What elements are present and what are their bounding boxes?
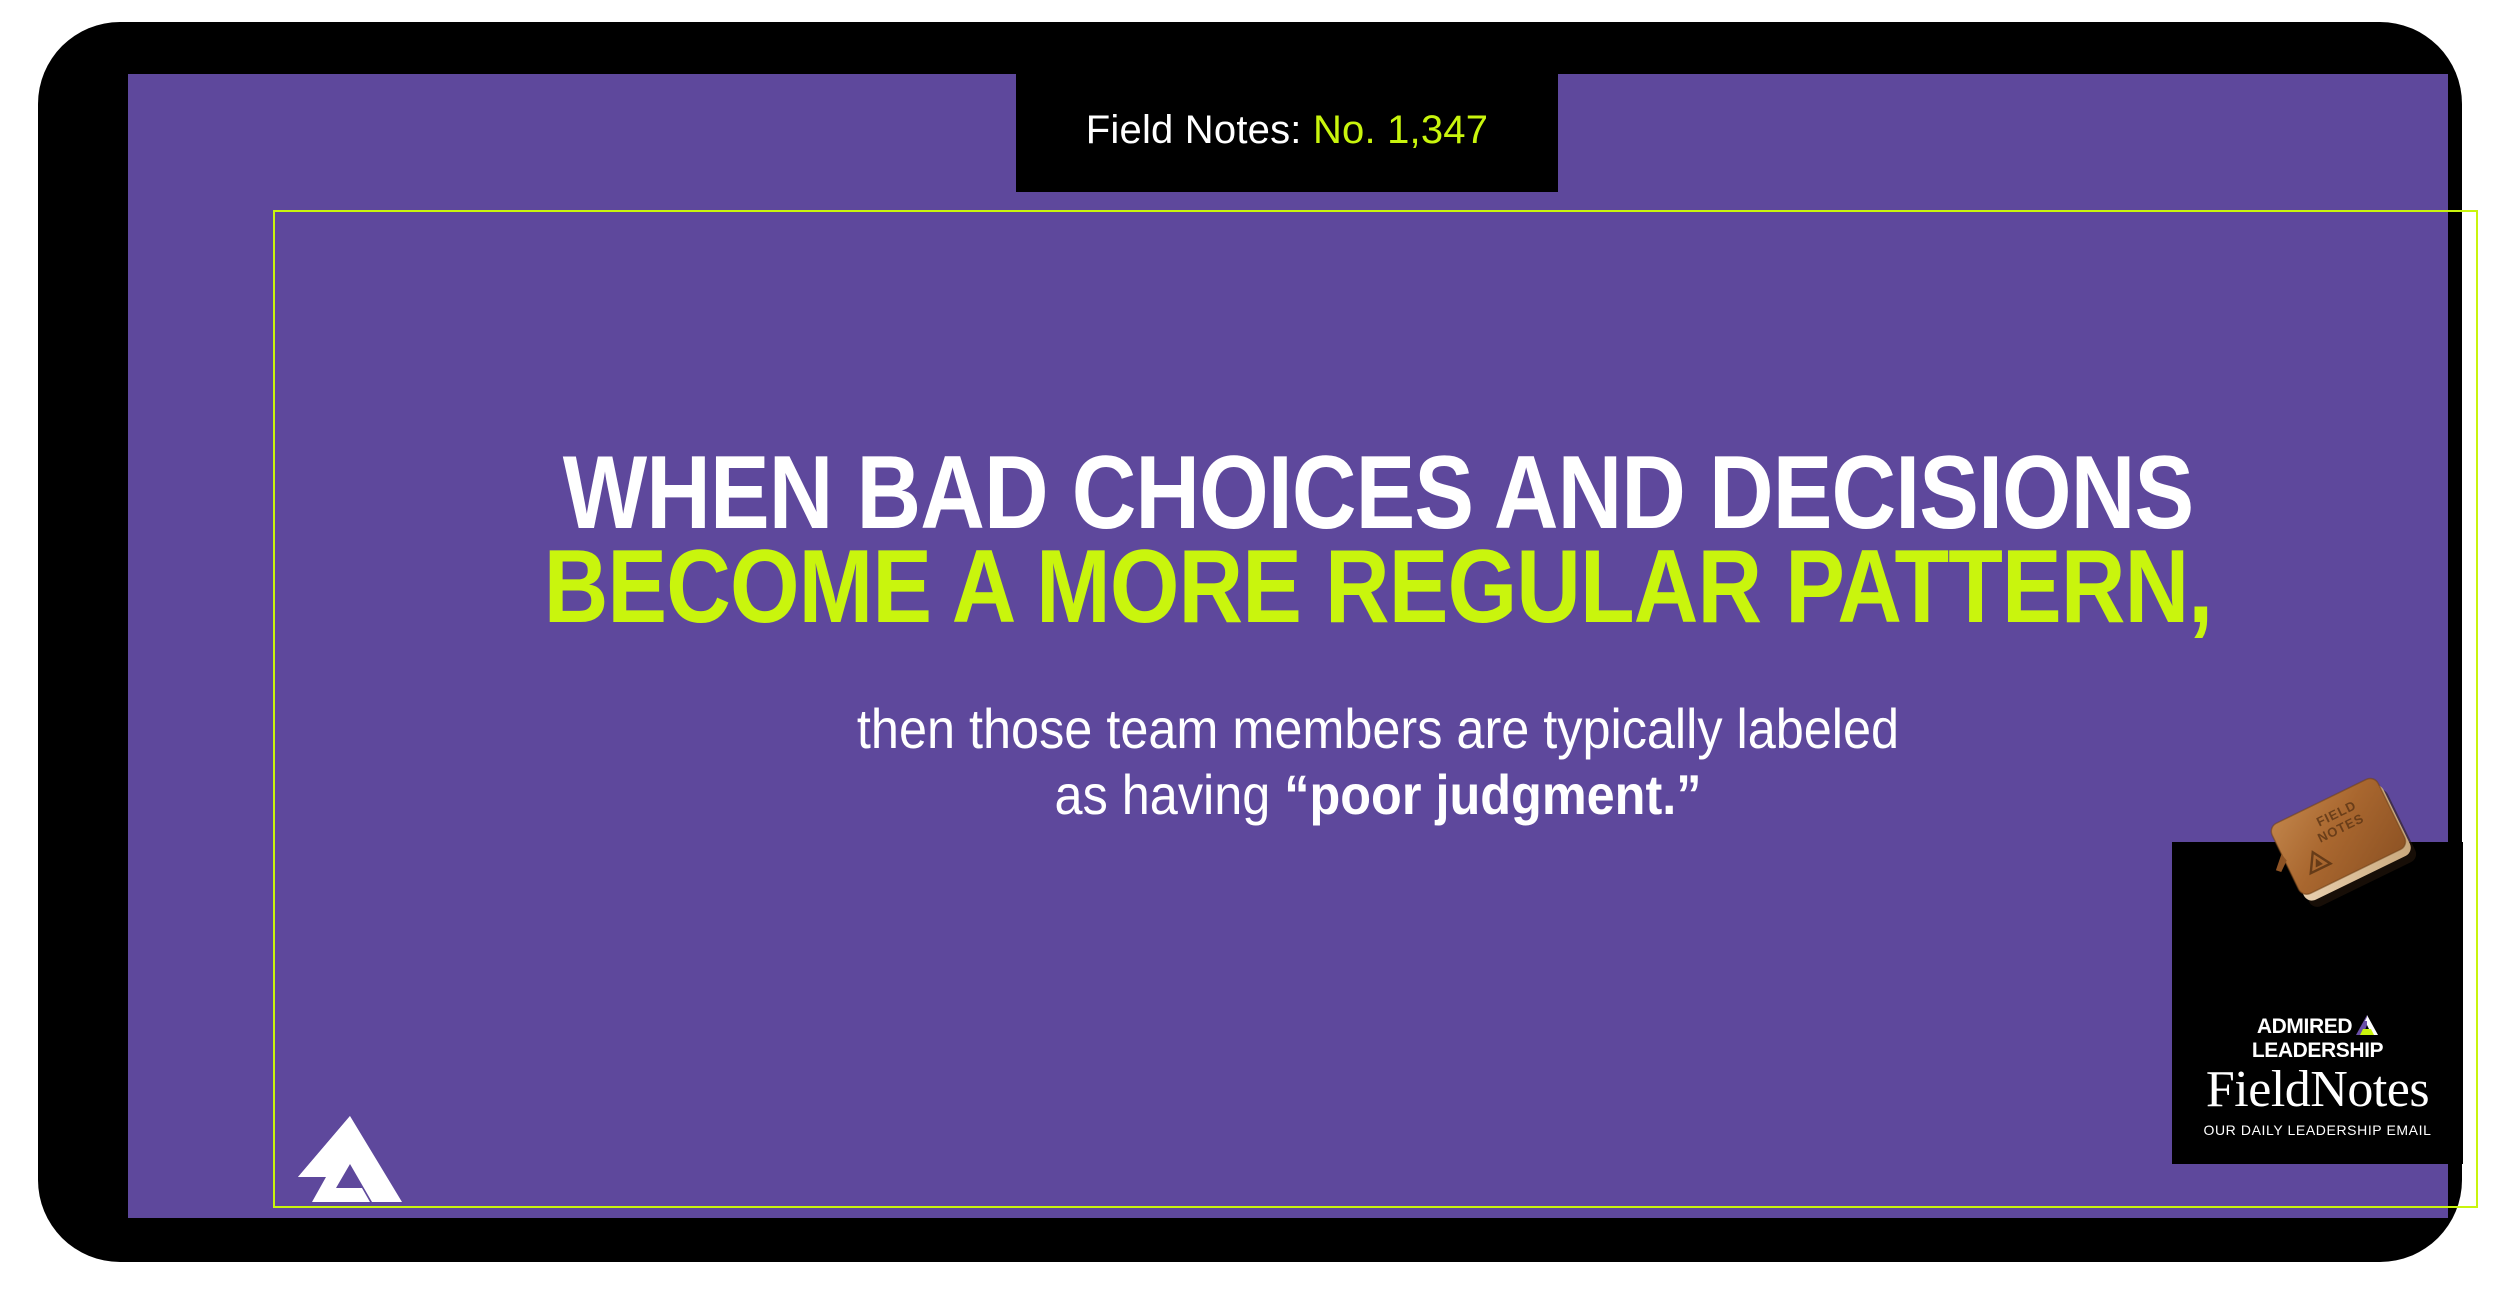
promo-triangle-icon [2356,1015,2378,1039]
slide-outer-frame: WHEN BAD CHOICES AND DECISIONS BECOME A … [38,22,2462,1262]
promo-brand-admired: ADMIRED [2257,1016,2352,1037]
promo-brand-leadership: LEADERSHIP [2172,1040,2463,1061]
issue-header-tab: Field Notes: No. 1,347 [1016,22,1558,192]
subtitle-quoted-phrase: “poor judgment.” [1284,763,1701,826]
subtitle-line-1: then those team members are typically la… [253,696,2500,762]
admired-leadership-logo-icon [296,1114,404,1204]
field-notes-journal-image: FIELD NOTES [2268,774,2430,924]
promo-logo-block: ADMIRED LEADERSHIP FieldNotes OUR DAILY … [2172,1015,2463,1138]
headline: WHEN BAD CHOICES AND DECISIONS BECOME A … [128,446,2500,634]
promo-title: FieldNotes [2172,1063,2463,1116]
issue-header-number: No. 1,347 [1313,108,1488,152]
promo-brand-row: ADMIRED [2172,1015,2463,1039]
headline-line-1: WHEN BAD CHOICES AND DECISIONS [303,446,2453,540]
promo-tagline: OUR DAILY LEADERSHIP EMAIL [2172,1122,2463,1138]
subtitle-line-2: as having “poor judgment.” [253,762,2500,828]
slide-canvas: WHEN BAD CHOICES AND DECISIONS BECOME A … [128,74,2448,1218]
headline-line-2: BECOME A MORE REGULAR PATTERN, [303,540,2453,634]
subtitle: then those team members are typically la… [128,696,2500,828]
issue-header-text: Field Notes: No. 1,347 [1086,110,1488,150]
subtitle-line-2-prefix: as having [1055,763,1285,826]
issue-header-label: Field Notes: [1086,108,1302,152]
